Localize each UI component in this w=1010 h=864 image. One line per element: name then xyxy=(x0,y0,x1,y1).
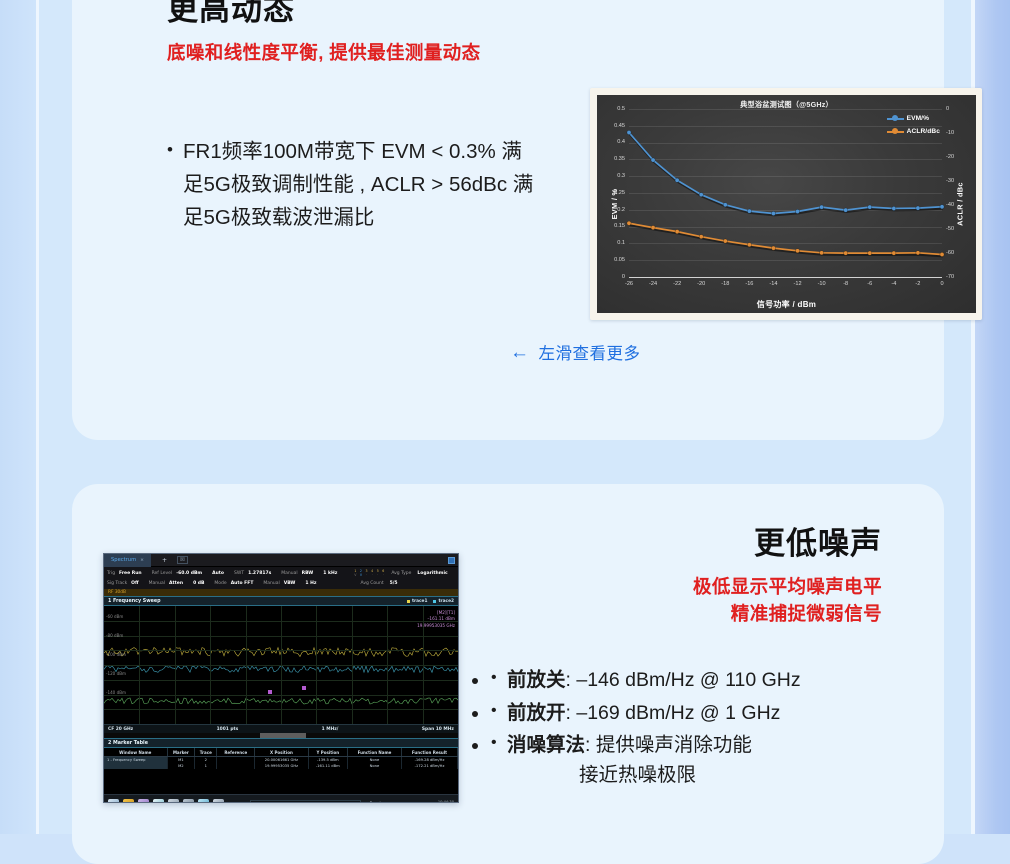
setting-key: Sig Track xyxy=(107,581,127,586)
dynamic-bullet-item: • FR1频率100M带宽下 EVM < 0.3% 满足5G极致调制性能 , A… xyxy=(167,135,539,235)
data-point xyxy=(627,221,631,225)
noise-card-title: 更低噪声 xyxy=(754,525,882,562)
noise-subtitle-line-1: 极低显示平均噪声电平 xyxy=(693,574,882,601)
page-background-left xyxy=(0,0,36,834)
data-point xyxy=(771,246,775,250)
marker-1-icon[interactable] xyxy=(268,690,272,694)
status-text: Ready xyxy=(370,802,384,803)
settings-row-1: TrigFree RunRef Level-60.0 dBmAutoSWT1.2… xyxy=(104,569,458,579)
setting-key: Manual xyxy=(281,571,297,576)
data-point xyxy=(795,249,799,253)
avg-count-key: Avg Count xyxy=(361,581,384,586)
app-icon-1[interactable] xyxy=(108,799,119,803)
setting-value[interactable]: 1.27817s xyxy=(248,571,271,576)
spectrum-graph: -60 dBm-80 dBm-100 dBm-120 dBm-140 dBm [… xyxy=(104,606,458,724)
data-point xyxy=(723,239,727,243)
graph-hgrid xyxy=(104,665,458,666)
legend-swatch xyxy=(887,131,904,133)
noise-item-sep: : xyxy=(566,669,571,691)
graph-hgrid xyxy=(104,621,458,622)
save-icon[interactable] xyxy=(138,799,149,803)
frequency-sweep-title: 1 Frequency Sweep xyxy=(108,599,161,604)
data-point xyxy=(892,251,896,255)
noise-item-value: 提供噪声消除功能 xyxy=(596,734,752,756)
trace-badge: trace1 xyxy=(407,599,428,604)
graph-y-label: -140 dBm xyxy=(106,690,126,695)
noise-list-item: •前放关: –146 dBm/Hz @ 110 GHz xyxy=(490,666,910,696)
tab-spectrum-label: Spectrum xyxy=(111,557,136,563)
avg-type-key: Avg Type xyxy=(391,571,411,576)
graph-hgrid xyxy=(104,636,458,637)
new-window-icon[interactable]: ☒ xyxy=(177,556,188,564)
graph-y-label: -120 dBm xyxy=(106,671,126,676)
dynamic-card-title: 更高动态 xyxy=(167,0,295,28)
gear-icon[interactable] xyxy=(198,799,209,803)
data-point xyxy=(627,130,631,134)
graph-hgrid xyxy=(104,695,458,696)
spectrum-analyzer-screenshot: Spectrum × + ☒ TrigFree RunRef Level-60.… xyxy=(103,553,459,803)
setting-key: Trig xyxy=(107,571,115,576)
data-point xyxy=(868,251,872,255)
graph-y-label: -60 dBm xyxy=(106,614,123,619)
setting-key: Ref Level xyxy=(152,571,173,576)
trace-state-grid: 1V2V3·4·5·6· xyxy=(353,570,385,578)
graph-hgrid xyxy=(104,650,458,651)
noise-item-value: –169 dBm/Hz @ 1 GHz xyxy=(576,702,780,724)
marker-readout: [M2][T1] –161.11 dBm 19.99953035 GHz xyxy=(417,610,455,629)
horizontal-scrollbar[interactable] xyxy=(104,733,458,738)
noise-card-subtitle: 极低显示平均噪声电平 精准捕捉微弱信号 xyxy=(693,574,882,628)
setting-value[interactable]: -60.0 dBm xyxy=(176,571,202,576)
folder-icon[interactable] xyxy=(123,799,134,803)
signal-bars-icon xyxy=(391,802,425,803)
marker-table-header-cell: Function Result xyxy=(401,748,457,757)
setting-key: Manual xyxy=(263,581,279,586)
marker-2-icon[interactable] xyxy=(302,686,306,690)
spectrum-settings-panel: TrigFree RunRef Level-60.0 dBmAutoSWT1.2… xyxy=(104,567,458,589)
marker-table-header-cell: Marker xyxy=(167,748,195,757)
settings-row-2: Sig TrackOffManualAtten0 dBModeAuto FFTM… xyxy=(104,579,458,589)
data-point xyxy=(844,208,848,212)
graph-y-label: -80 dBm xyxy=(106,633,123,638)
marker-table-header-cell: Y Position xyxy=(308,748,347,757)
card-higher-dynamic: 更高动态 底噪和线性度平衡, 提供最佳测量动态 • FR1频率100M带宽下 E… xyxy=(72,0,944,440)
setting-value[interactable]: RBW xyxy=(302,571,314,576)
swipe-left-hint[interactable]: ← 左滑查看更多 xyxy=(510,340,641,364)
marker-table-head-row: Window NameMarkerTraceReferenceX Positio… xyxy=(104,748,458,757)
dynamic-bullet-text: FR1频率100M带宽下 EVM < 0.3% 满足5G极致调制性能 , ACL… xyxy=(167,135,539,235)
setting-value[interactable]: Free Run xyxy=(119,571,142,576)
avg-type-value[interactable]: Logarithmic xyxy=(417,571,447,576)
noise-item-label: 前放开 xyxy=(507,702,566,724)
series-line xyxy=(629,133,942,214)
swipe-hint-label: 左滑查看更多 xyxy=(539,340,641,364)
setting-value[interactable]: 1 Hz xyxy=(305,581,316,586)
setting-value[interactable]: 1 kHz xyxy=(323,571,337,576)
marker-table-header-cell: Reference xyxy=(217,748,255,757)
data-point xyxy=(723,203,727,207)
chart-plot-area: 典型浴盆测试图（@5GHz） EVM / % ACLR / dBc 信号功率 /… xyxy=(597,95,976,313)
marker-table-empty-space xyxy=(104,769,458,794)
add-tab-icon[interactable]: + xyxy=(162,557,167,564)
data-point xyxy=(651,226,655,230)
taskbar-input-field[interactable] xyxy=(250,800,361,804)
noise-list-item: •消噪算法: 提供噪声消除功能接近热噪极限 xyxy=(490,731,910,790)
setting-value[interactable]: 0 dB xyxy=(193,581,204,586)
noise-item-continuation: 接近热噪极限 xyxy=(507,761,910,791)
bullet-dot-icon: • xyxy=(491,731,497,755)
data-point xyxy=(675,230,679,234)
data-point xyxy=(699,193,703,197)
trace-legend: trace1trace2 xyxy=(407,599,454,604)
noise-item-sep: : xyxy=(585,734,590,756)
data-point xyxy=(747,209,751,213)
data-point xyxy=(940,252,944,256)
card-lower-noise: 更低噪声 极低显示平均噪声电平 精准捕捉微弱信号 •前放关: –146 dBm/… xyxy=(72,484,944,864)
data-point xyxy=(916,206,920,210)
noise-list-item: •前放开: –169 dBm/Hz @ 1 GHz xyxy=(490,699,910,729)
bullet-dot-icon: • xyxy=(167,136,173,164)
rf-attenuation-badge: RF 30dB xyxy=(104,589,458,596)
setting-key: Mode xyxy=(214,581,226,586)
avg-count-value[interactable]: 5/5 xyxy=(390,581,398,586)
data-point xyxy=(820,251,824,255)
data-point xyxy=(892,206,896,210)
overflow-menu-icon[interactable]: ••• xyxy=(230,801,241,803)
marker-table-header-cell: Function Name xyxy=(347,748,401,757)
bullet-dot-icon: • xyxy=(491,699,497,723)
graph-y-label: -100 dBm xyxy=(106,652,126,657)
marker-readout-line-3: 19.99953035 GHz xyxy=(417,623,455,629)
noise-item-value: –146 dBm/Hz @ 110 GHz xyxy=(576,669,800,691)
legend-swatch xyxy=(887,118,904,120)
data-point xyxy=(940,205,944,209)
setting-key: SWT xyxy=(234,571,244,576)
series-line xyxy=(629,223,942,254)
legend-label: EVM/% xyxy=(907,115,929,122)
legend-item: ACLR/dBc xyxy=(887,128,940,135)
noise-subtitle-line-2: 精准捕捉微弱信号 xyxy=(693,601,882,628)
marker-table: Window NameMarkerTraceReferenceX Positio… xyxy=(104,748,458,769)
data-point xyxy=(747,243,751,247)
tab-spectrum[interactable]: Spectrum × xyxy=(104,554,151,567)
display-icon[interactable] xyxy=(213,799,224,803)
window-button-icon[interactable] xyxy=(448,557,455,564)
dynamic-card-subtitle: 底噪和线性度平衡, 提供最佳测量动态 xyxy=(167,40,480,67)
data-point xyxy=(916,251,920,255)
legend-item: EVM/% xyxy=(887,115,940,122)
clock: 10:44:30 2023/08/01 xyxy=(433,800,454,803)
bullet-dot-icon: • xyxy=(491,666,497,690)
marker-table-header-cell: X Position xyxy=(255,748,308,757)
data-point xyxy=(675,178,679,182)
legend-label: ACLR/dBc xyxy=(907,128,940,135)
spectrum-tab-bar: Spectrum × + ☒ xyxy=(104,554,458,567)
noise-spec-list: •前放关: –146 dBm/Hz @ 110 GHz•前放开: –169 dB… xyxy=(490,666,910,794)
setting-value[interactable]: Atten xyxy=(169,581,183,586)
chart-legend: EVM/%ACLR/dBc xyxy=(887,115,940,141)
camera-icon[interactable] xyxy=(153,799,164,803)
noise-item-label: 前放关 xyxy=(507,669,566,691)
noise-item-label: 消噪算法 xyxy=(507,734,585,756)
noise-item-sep: : xyxy=(566,702,571,724)
marker-table-header-cell: Trace xyxy=(195,748,217,757)
close-icon[interactable]: × xyxy=(140,558,144,563)
data-point xyxy=(868,205,872,209)
print-icon[interactable] xyxy=(168,799,179,803)
data-point xyxy=(820,205,824,209)
graph-hgrid xyxy=(104,709,458,710)
arrow-left-icon: ← xyxy=(510,343,530,362)
spectrum-taskbar: ••• Ready 10:44:30 2023/08/01 xyxy=(104,794,458,803)
tools-icon[interactable] xyxy=(183,799,194,803)
trace-badge: trace2 xyxy=(433,599,454,604)
marker-table-header: 2 Marker Table xyxy=(104,738,458,748)
setting-value[interactable]: Off xyxy=(131,581,138,586)
data-point xyxy=(844,251,848,255)
marker-table-body: 1 - Frequency SweepM1220.00061661 GHz-13… xyxy=(104,757,458,770)
graph-hgrid xyxy=(104,680,458,681)
setting-value[interactable]: VBW xyxy=(284,581,296,586)
marker-table-header-cell: Window Name xyxy=(104,748,167,757)
setting-key: Manual xyxy=(149,581,165,586)
frequency-sweep-header: 1 Frequency Sweep trace1trace2 xyxy=(104,596,458,606)
setting-value[interactable]: Auto FFT xyxy=(231,581,254,586)
data-point xyxy=(771,211,775,215)
data-point xyxy=(699,235,703,239)
setting-value[interactable]: Auto xyxy=(212,571,224,576)
data-point xyxy=(651,158,655,162)
clock-time: 10:44:30 xyxy=(433,800,454,803)
bathtub-chart: 典型浴盆测试图（@5GHz） EVM / % ACLR / dBc 信号功率 /… xyxy=(590,88,982,320)
data-point xyxy=(795,209,799,213)
